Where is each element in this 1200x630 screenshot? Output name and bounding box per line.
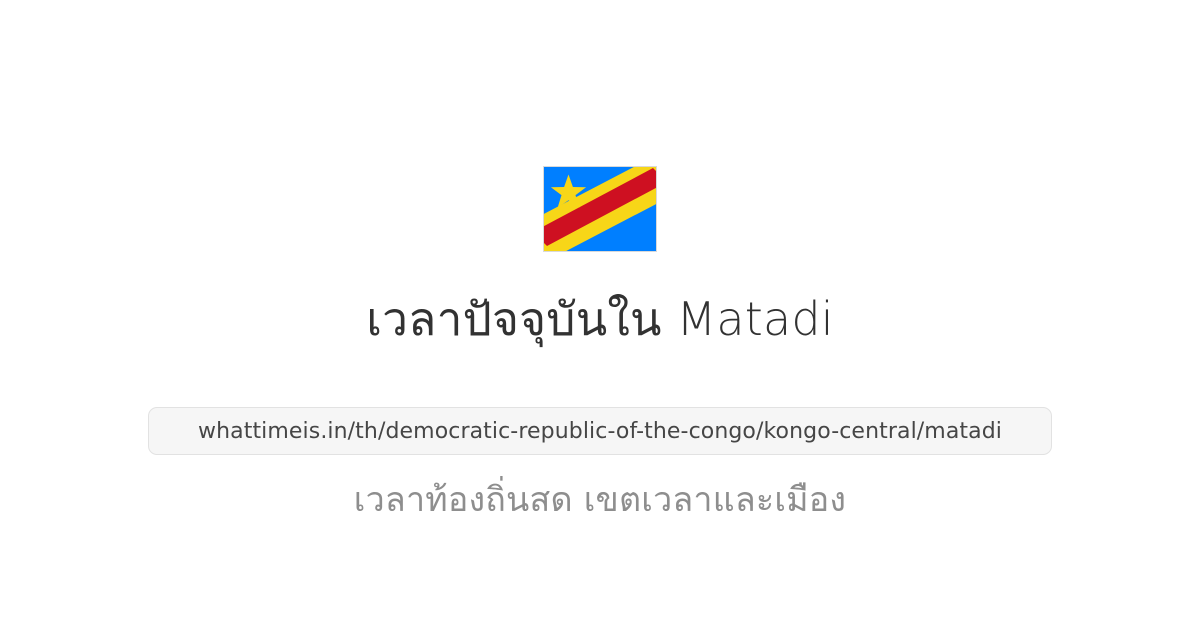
- democratic-republic-of-the-congo-flag-icon: [543, 166, 657, 252]
- page-title: เวลาปัจจุบันใน Matadi: [366, 295, 834, 345]
- page-subtitle: เวลาท้องถิ่นสด เขตเวลาและเมือง: [354, 481, 846, 519]
- url-text: whattimeis.in/th/democratic-republic-of-…: [198, 419, 1002, 444]
- preview-card: เวลาปัจจุบันใน Matadi whattimeis.in/th/d…: [0, 0, 1200, 630]
- country-flag: [543, 166, 657, 252]
- url-pill[interactable]: whattimeis.in/th/democratic-republic-of-…: [148, 407, 1052, 455]
